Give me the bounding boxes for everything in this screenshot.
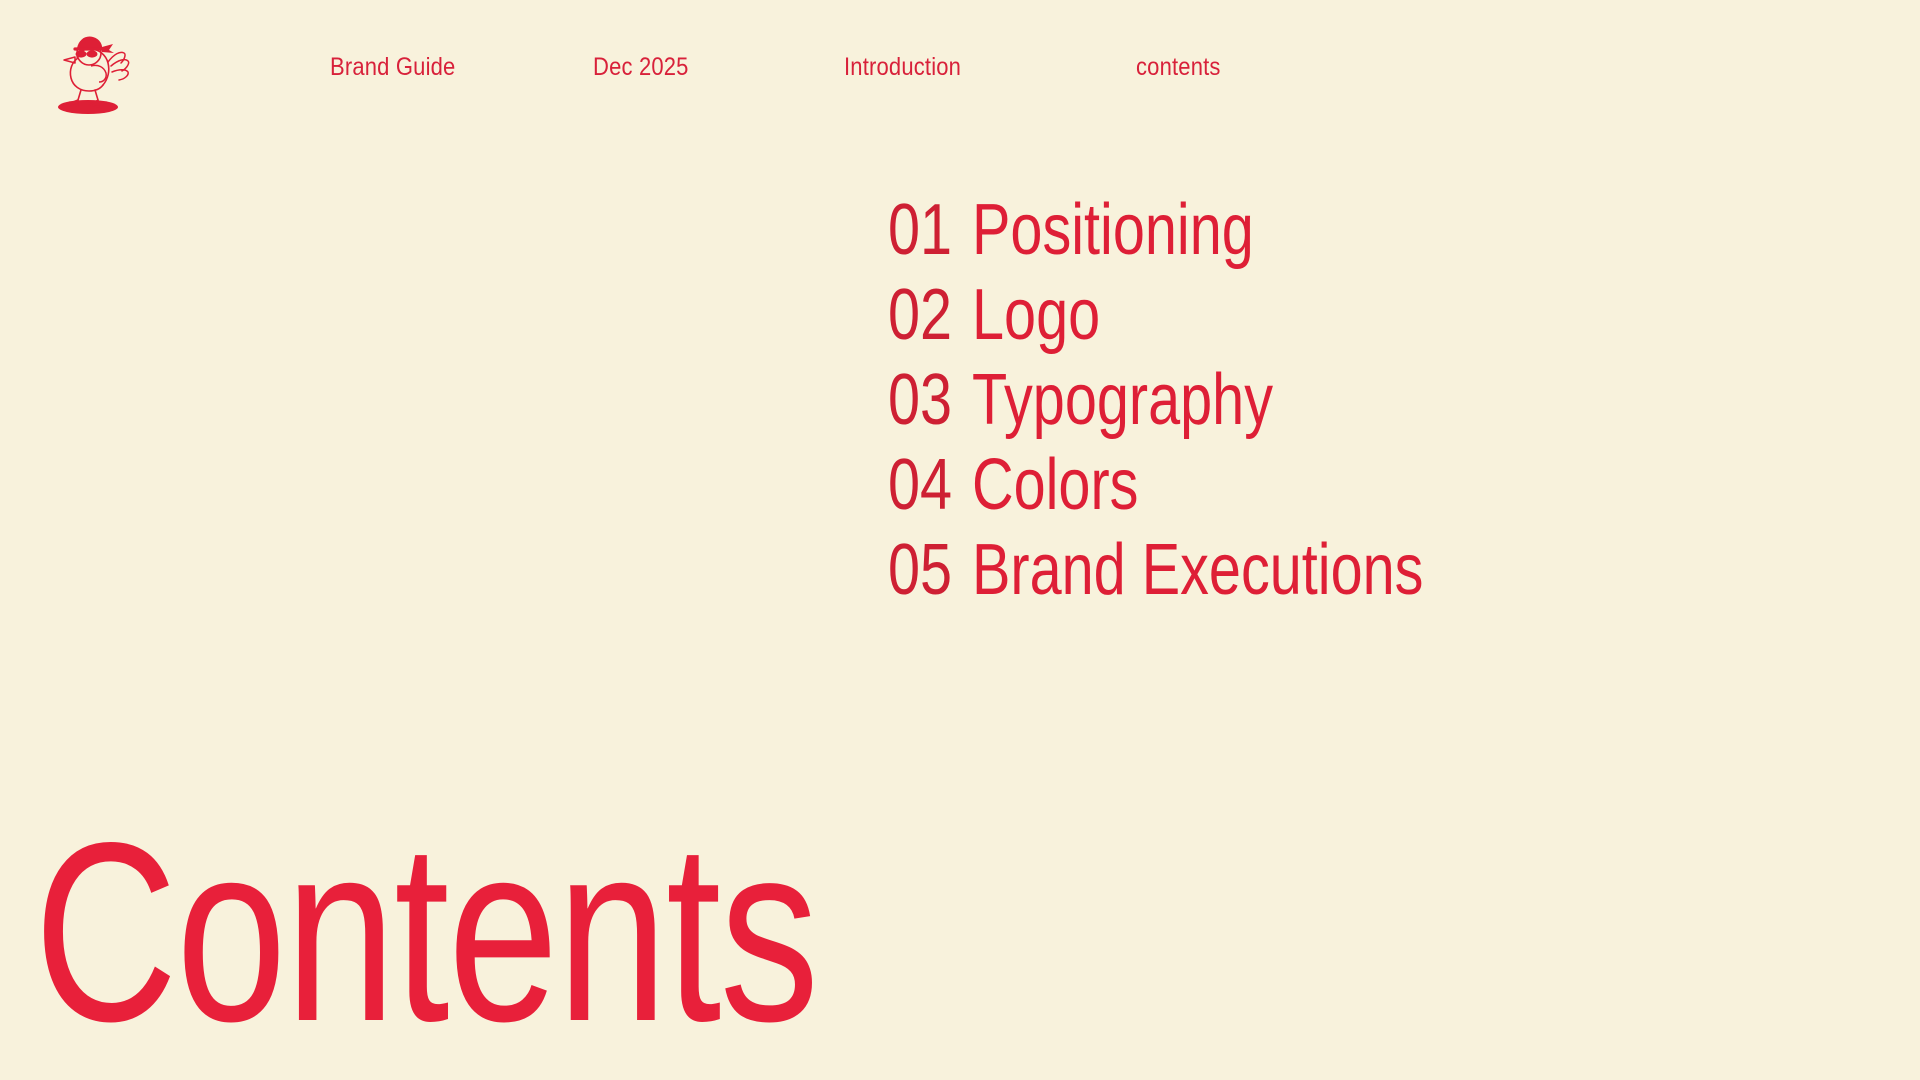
toc-number: 02 (888, 273, 958, 358)
toc-row-04[interactable]: 04 Colors (888, 443, 1180, 528)
toc-label: Positioning (972, 188, 1254, 273)
duck-mascot-icon (48, 22, 134, 114)
nav-item-date[interactable]: Dec 2025 (593, 52, 689, 82)
toc-label: Colors (972, 443, 1138, 528)
nav-item-list: Brand Guide Dec 2025 Introduction conten… (330, 52, 1330, 86)
table-of-contents: 01 Positioning 02 Logo 03 Typography 04 … (888, 188, 1868, 613)
duck-mascot-logo[interactable] (48, 22, 134, 114)
nav-item-contents[interactable]: contents (1136, 52, 1221, 82)
toc-number: 05 (888, 528, 958, 613)
toc-row-03[interactable]: 03 Typography (888, 358, 1348, 443)
toc-label: Brand Executions (972, 528, 1423, 613)
toc-number: 03 (888, 358, 958, 443)
toc-row-01[interactable]: 01 Positioning (888, 188, 1324, 273)
nav-item-introduction[interactable]: Introduction (844, 52, 961, 82)
toc-label: Typography (972, 358, 1273, 443)
toc-row-05[interactable]: 05 Brand Executions (888, 528, 1536, 613)
top-navigation-bar: Brand Guide Dec 2025 Introduction conten… (0, 0, 1920, 140)
toc-number: 04 (888, 443, 958, 528)
page-title: Contents (34, 825, 818, 1040)
toc-label: Logo (972, 273, 1100, 358)
toc-number: 01 (888, 188, 958, 273)
nav-item-brand-guide[interactable]: Brand Guide (330, 52, 455, 82)
toc-row-02[interactable]: 02 Logo (888, 273, 1132, 358)
